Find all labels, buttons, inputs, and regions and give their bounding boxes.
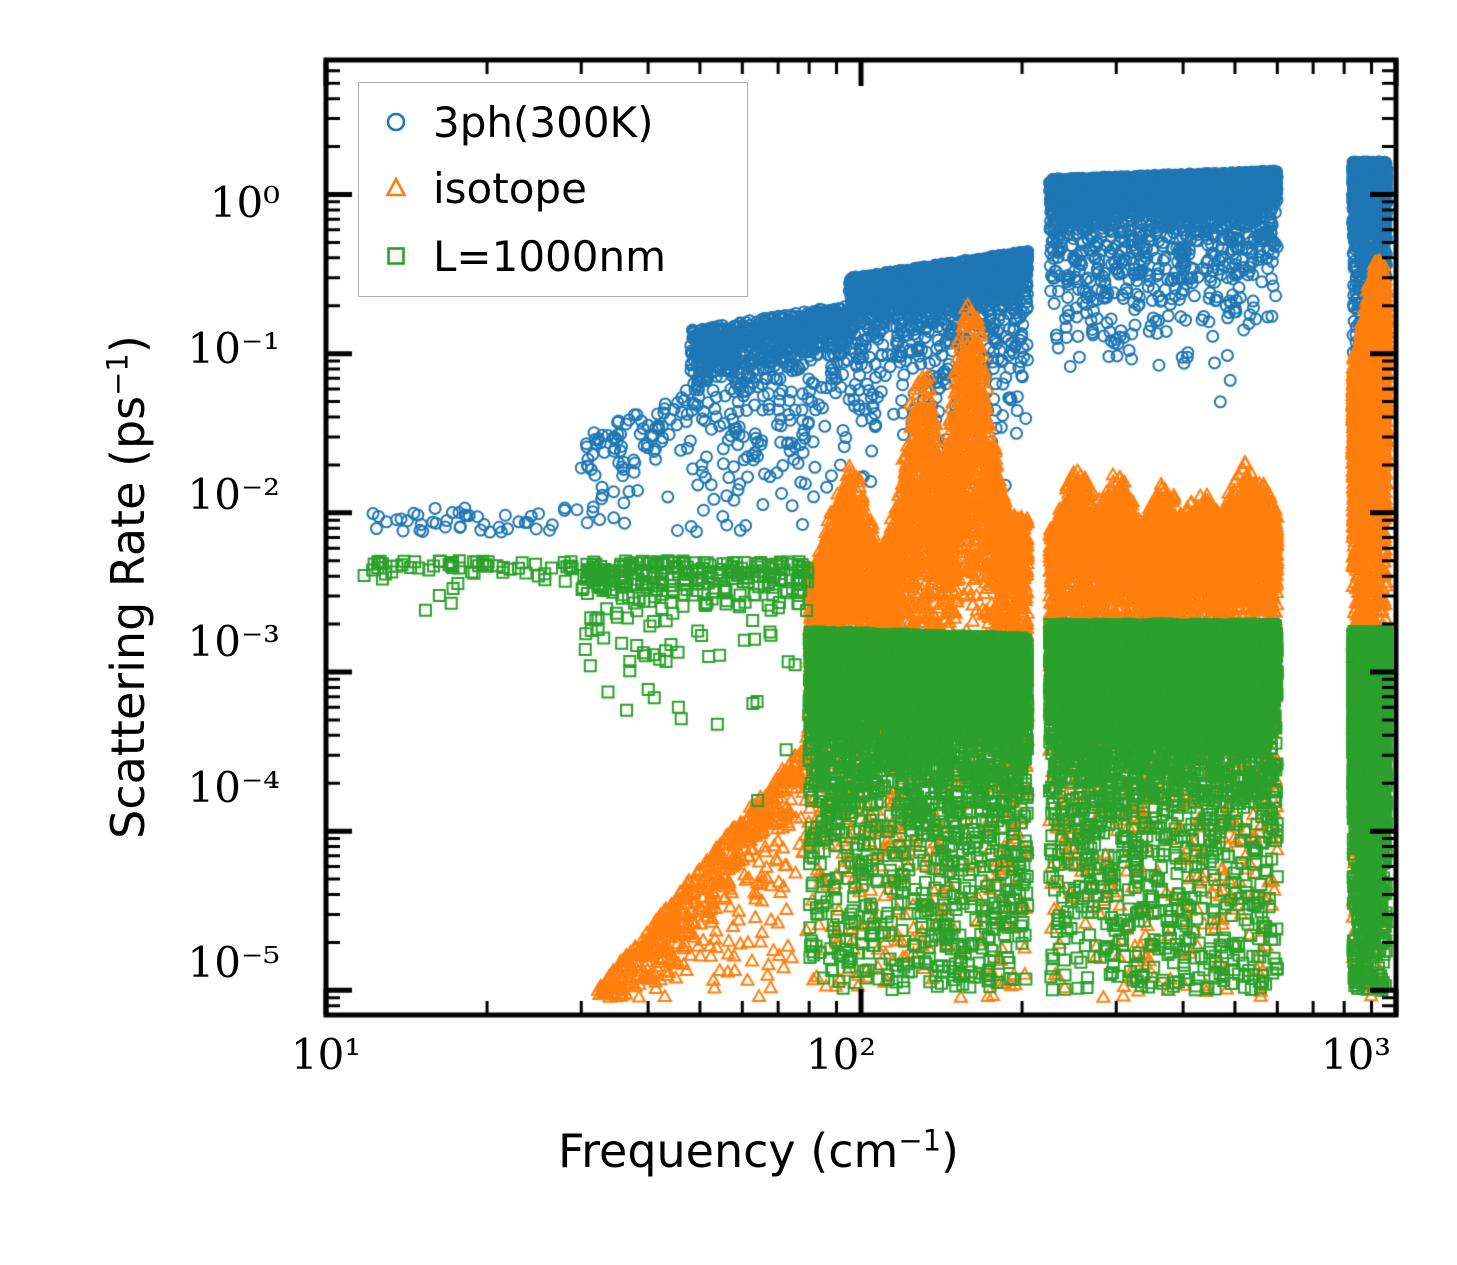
- x-axis-title: Frequency (cm−1): [0, 1124, 1457, 1178]
- scatter-plot-figure: 10⁰ 10⁻¹ 10⁻² 10⁻³ 10⁻⁴ 10⁻⁵ 10¹ 10² 10³…: [0, 0, 1457, 1265]
- x-tick-label-1: 10²: [761, 1030, 921, 1079]
- legend-label-3ph: 3ph(300K): [433, 98, 653, 147]
- x-tick-label-2: 10³: [1276, 1030, 1436, 1079]
- x-tick-label-0: 10¹: [246, 1030, 406, 1079]
- legend-label-isotope: isotope: [433, 164, 587, 213]
- legend-entry-boundary: L=1000nm: [359, 223, 747, 289]
- legend-label-boundary: L=1000nm: [433, 232, 666, 281]
- triangle-marker-icon: [359, 173, 433, 203]
- y-tick-label-2: 10⁻²: [60, 470, 280, 519]
- legend-entry-isotope: isotope: [359, 155, 747, 221]
- square-marker-icon: [359, 241, 433, 271]
- y-tick-label-3: 10⁻³: [60, 617, 280, 666]
- circle-marker-icon: [359, 107, 433, 137]
- y-tick-label-5: 10⁻⁵: [60, 938, 280, 987]
- legend: 3ph(300K) isotope L=1000nm: [358, 82, 748, 297]
- y-tick-label-1: 10⁻¹: [60, 324, 280, 373]
- legend-entry-3ph: 3ph(300K): [359, 89, 747, 155]
- y-axis-title: Scattering Rate (ps−1): [101, 137, 155, 1037]
- y-tick-label-4: 10⁻⁴: [60, 763, 280, 812]
